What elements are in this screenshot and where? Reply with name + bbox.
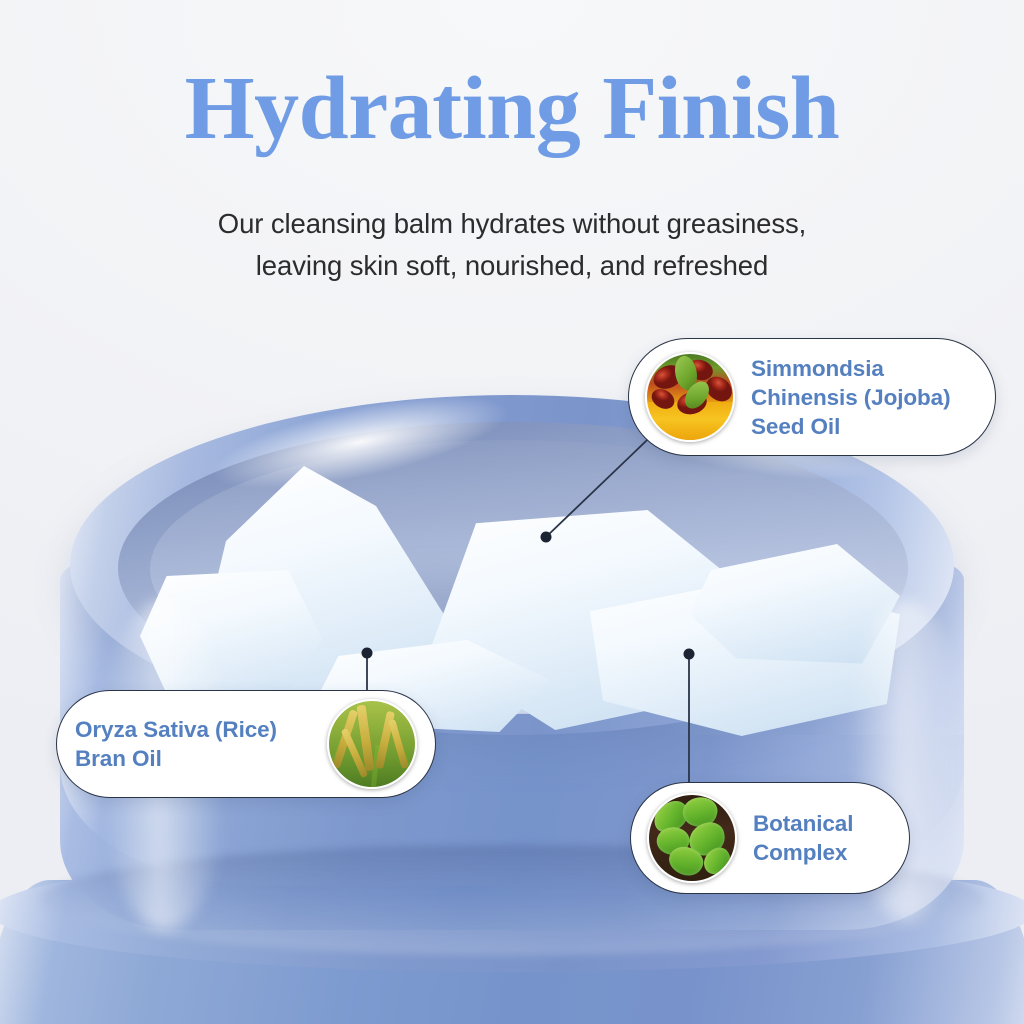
callout-label-botanical: Botanical Complex	[753, 809, 853, 867]
callout-label-line: Seed Oil	[751, 412, 950, 441]
callout-card-jojoba[interactable]: Simmondsia Chinensis (Jojoba) Seed Oil	[628, 338, 996, 456]
callout-label-line: Chinensis (Jojoba)	[751, 383, 950, 412]
mint-leaves-icon	[647, 793, 737, 883]
callout-label-rice: Oryza Sativa (Rice) Bran Oil	[75, 715, 311, 773]
callout-label-line: Complex	[753, 838, 853, 867]
callout-label-line: Simmondsia	[751, 354, 950, 383]
rice-stalks-icon	[327, 699, 417, 789]
callout-card-botanical[interactable]: Botanical Complex	[630, 782, 910, 894]
infographic-canvas: Hydrating Finish Our cleansing balm hydr…	[0, 0, 1024, 1024]
callout-card-rice[interactable]: Oryza Sativa (Rice) Bran Oil	[56, 690, 436, 798]
callout-label-line: Bran Oil	[75, 744, 311, 773]
callout-label-line: Oryza Sativa (Rice)	[75, 715, 311, 744]
callout-label-line: Botanical	[753, 809, 853, 838]
callout-label-jojoba: Simmondsia Chinensis (Jojoba) Seed Oil	[751, 354, 950, 441]
jojoba-berries-icon	[645, 352, 735, 442]
